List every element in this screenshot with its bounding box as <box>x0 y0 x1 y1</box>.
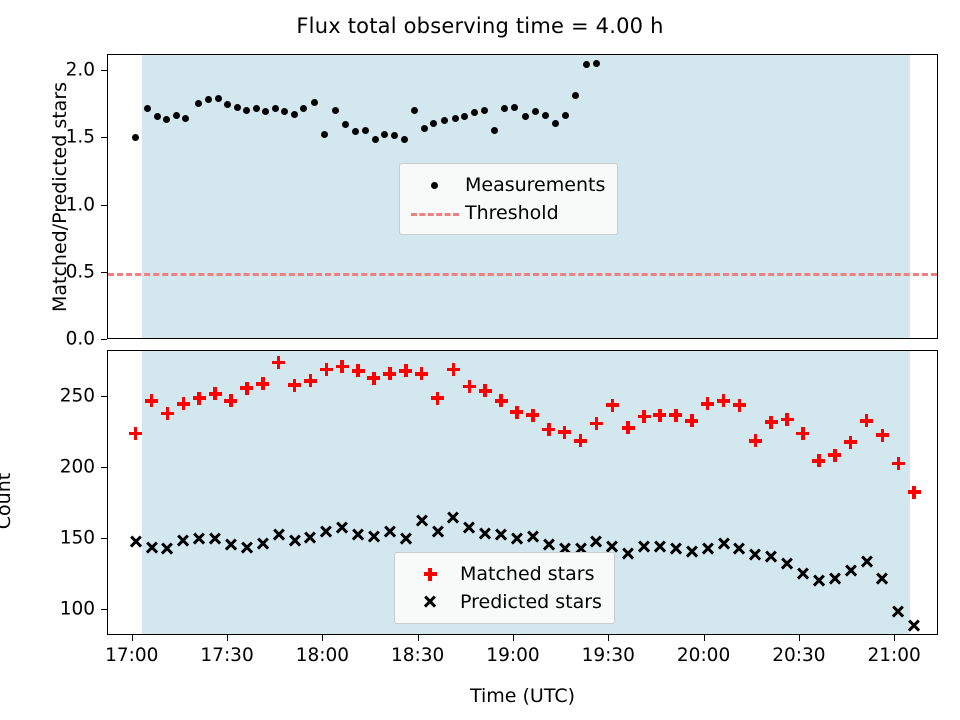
x-tick-mark <box>704 635 705 641</box>
data-point-measurement <box>195 100 202 107</box>
data-point-measurement <box>401 136 408 143</box>
top-legend: Measurements Threshold <box>399 163 618 235</box>
y-tick-mark <box>101 538 107 539</box>
y-tick-mark <box>101 272 107 273</box>
data-point-measurement <box>224 101 231 108</box>
y-tick-mark <box>101 137 107 138</box>
x-tick-mark <box>132 635 133 641</box>
data-point-measurement <box>421 125 428 132</box>
y-tick-mark <box>101 70 107 71</box>
data-point-measurement <box>461 113 468 120</box>
data-point-measurement <box>215 95 222 102</box>
legend-label-predicted-stars: Predicted stars <box>460 591 602 613</box>
data-point-measurement <box>163 116 170 123</box>
x-tick-mark <box>799 635 800 641</box>
top-y-axis-label: Matched/Predicted stars <box>49 52 71 342</box>
data-point-measurement <box>321 131 328 138</box>
data-point-measurement <box>532 108 539 115</box>
x-tick-mark <box>608 635 609 641</box>
x-tick-label: 18:30 <box>391 645 444 666</box>
y-tick-mark <box>101 609 107 610</box>
data-point-measurement <box>362 127 369 134</box>
y-tick-mark <box>101 205 107 206</box>
legend-label-measurements: Measurements <box>465 174 605 196</box>
data-point-measurement <box>311 99 318 106</box>
chart-title: Flux total observing time = 4.00 h <box>0 14 960 38</box>
data-point-measurement <box>481 107 488 114</box>
data-point-measurement <box>583 61 590 68</box>
cross-marker-icon <box>404 591 460 613</box>
y-tick-label: 200 <box>20 456 95 477</box>
data-point-measurement <box>552 120 559 127</box>
data-point-measurement <box>471 109 478 116</box>
data-point-measurement <box>430 120 437 127</box>
legend-item-measurements: Measurements <box>409 171 605 199</box>
data-point-measurement <box>372 136 379 143</box>
dashed-line-marker-icon <box>409 202 465 224</box>
x-tick-label: 17:00 <box>105 645 158 666</box>
y-tick-mark <box>101 396 107 397</box>
y-tick-label: 100 <box>20 599 95 620</box>
x-tick-label: 18:00 <box>296 645 349 666</box>
x-tick-mark <box>322 635 323 641</box>
x-tick-label: 21:00 <box>867 645 920 666</box>
data-point-measurement <box>332 107 339 114</box>
bottom-legend: Matched stars Predicted stars <box>394 552 615 624</box>
data-point-measurement <box>300 105 307 112</box>
plus-marker-icon <box>404 563 460 585</box>
dot-marker-icon <box>409 174 465 196</box>
y-tick-mark <box>101 467 107 468</box>
legend-label-threshold: Threshold <box>465 202 559 224</box>
figure: Flux total observing time = 4.00 h 0.00.… <box>0 0 960 720</box>
y-tick-label: 250 <box>20 385 95 406</box>
data-point-measurement <box>441 117 448 124</box>
data-point-measurement <box>511 104 518 111</box>
data-point-measurement <box>253 105 260 112</box>
data-point-measurement <box>522 113 529 120</box>
x-tick-label: 20:00 <box>677 645 730 666</box>
data-point-measurement <box>243 107 250 114</box>
x-tick-label: 19:30 <box>582 645 635 666</box>
data-point-measurement <box>352 128 359 135</box>
data-point-measurement <box>281 108 288 115</box>
data-point-measurement <box>272 105 279 112</box>
y-tick-mark <box>101 339 107 340</box>
x-tick-mark <box>418 635 419 641</box>
data-point-measurement <box>542 112 549 119</box>
data-point-measurement <box>173 112 180 119</box>
legend-item-predicted-stars: Predicted stars <box>404 588 602 616</box>
data-point-measurement <box>381 131 388 138</box>
data-point-measurement <box>205 96 212 103</box>
x-axis-label: Time (UTC) <box>107 685 938 707</box>
data-point-measurement <box>452 115 459 122</box>
legend-item-threshold: Threshold <box>409 199 605 227</box>
data-point-measurement <box>593 60 600 67</box>
x-tick-mark <box>227 635 228 641</box>
legend-label-matched-stars: Matched stars <box>460 563 594 585</box>
x-tick-label: 17:30 <box>200 645 253 666</box>
legend-item-matched-stars: Matched stars <box>404 560 602 588</box>
threshold-line <box>108 273 937 276</box>
data-point-measurement <box>562 112 569 119</box>
data-point-measurement <box>291 111 298 118</box>
data-point-measurement <box>411 107 418 114</box>
y-tick-label: 150 <box>20 528 95 549</box>
x-tick-label: 19:00 <box>486 645 539 666</box>
data-point-measurement <box>501 105 508 112</box>
data-point-measurement <box>262 108 269 115</box>
data-point-measurement <box>391 132 398 139</box>
data-point-measurement <box>572 92 579 99</box>
x-tick-mark <box>513 635 514 641</box>
bottom-y-axis-label: Count <box>0 411 15 591</box>
x-tick-label: 20:30 <box>772 645 825 666</box>
data-point-measurement <box>342 121 349 128</box>
data-point-measurement <box>182 115 189 122</box>
data-point-measurement <box>491 127 498 134</box>
data-point-measurement <box>132 134 139 141</box>
data-point-measurement <box>154 113 161 120</box>
data-point-measurement <box>234 104 241 111</box>
x-tick-mark <box>894 635 895 641</box>
data-point-measurement <box>144 105 151 112</box>
